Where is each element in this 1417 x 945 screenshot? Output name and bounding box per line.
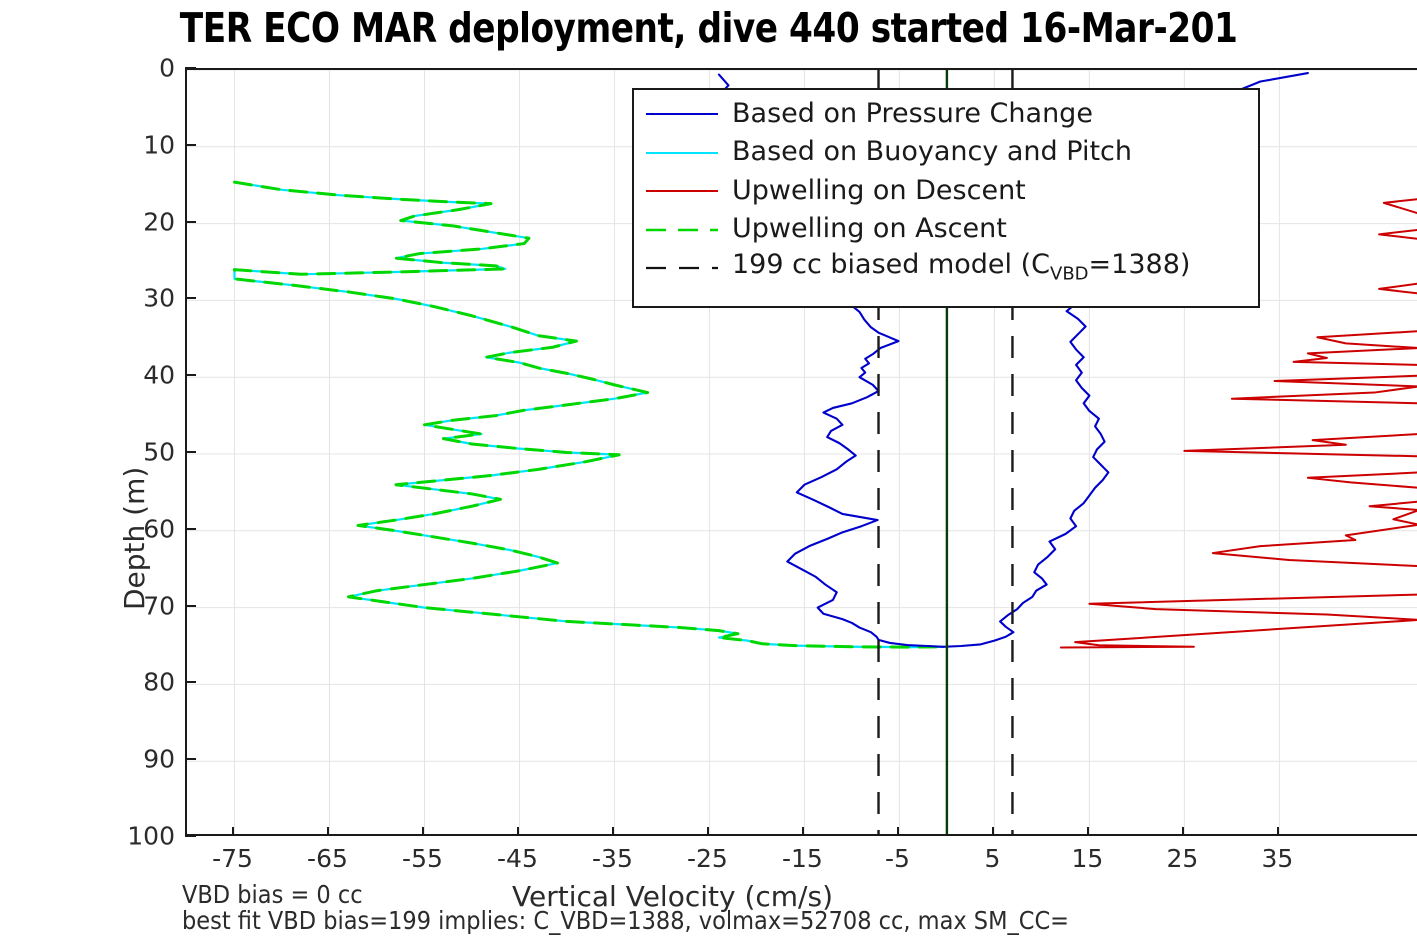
legend-swatch-line — [646, 189, 718, 191]
y-axis-tick-label: 50 — [117, 438, 175, 467]
legend-swatch-line — [646, 112, 718, 114]
legend-swatch-dashed-line — [646, 228, 718, 230]
y-axis-tick-label: 90 — [117, 745, 175, 774]
legend-label-subscript: VBD — [1050, 263, 1089, 284]
x-axis-tick-label: 15 — [1071, 844, 1103, 873]
legend-label-pre: 199 cc biased model (C — [732, 249, 1050, 280]
x-axis-tick — [1087, 827, 1089, 836]
y-axis-tick — [185, 451, 196, 453]
legend-item-buoyancy-pitch[interactable]: Based on Buoyancy and Pitch — [646, 133, 1248, 172]
x-axis-tick-label: -75 — [212, 844, 253, 873]
y-axis-tick-label: 40 — [117, 361, 175, 390]
x-axis-tick-label: -5 — [885, 844, 910, 873]
x-axis-tick-label: 35 — [1261, 844, 1293, 873]
x-axis-tick-label: -35 — [592, 844, 633, 873]
y-axis-tick — [185, 144, 196, 146]
x-axis-tick-label: -25 — [687, 844, 728, 873]
best-fit-annotation: best fit VBD bias=199 implies: C_VBD=138… — [182, 906, 1069, 935]
y-axis-tick — [185, 605, 196, 607]
y-axis-tick-label: 0 — [117, 54, 175, 83]
x-axis-tick — [327, 827, 329, 836]
vbd-bias-annotation: VBD bias = 0 cc — [182, 880, 363, 909]
y-axis-tick — [185, 835, 196, 837]
legend-label: 199 cc biased model (CVBD=1388) — [732, 251, 1190, 283]
chart-legend: Based on Pressure Change Based on Buoyan… — [632, 88, 1260, 308]
y-axis-tick — [185, 221, 196, 223]
x-axis-tick — [1277, 827, 1279, 836]
chart-title: TER ECO MAR deployment, dive 440 started… — [0, 0, 1417, 56]
legend-item-upwelling-descent[interactable]: Upwelling on Descent — [646, 171, 1248, 210]
legend-swatch-line — [646, 151, 718, 153]
x-axis-tick — [802, 827, 804, 836]
y-axis-tick-label: 30 — [117, 284, 175, 313]
y-axis-tick-label: 80 — [117, 668, 175, 697]
x-axis-tick — [897, 827, 899, 836]
y-axis-tick — [185, 297, 196, 299]
x-axis-tick — [612, 827, 614, 836]
legend-label: Upwelling on Descent — [732, 177, 1026, 204]
x-axis-tick — [517, 827, 519, 836]
legend-label: Upwelling on Ascent — [732, 215, 1007, 242]
x-axis-tick-label: -55 — [402, 844, 443, 873]
y-axis-tick — [185, 681, 196, 683]
chart-title-text: TER ECO MAR deployment, dive 440 started… — [180, 4, 1238, 52]
y-axis-tick-label: 20 — [117, 207, 175, 236]
y-axis-tick — [185, 374, 196, 376]
y-axis-title: Depth (m) — [118, 467, 151, 610]
x-axis-tick — [1182, 827, 1184, 836]
legend-swatch-dashed-line — [646, 266, 718, 268]
x-axis-tick — [707, 827, 709, 836]
legend-item-upwelling-ascent[interactable]: Upwelling on Ascent — [646, 210, 1248, 249]
x-axis-tick-label: -65 — [307, 844, 348, 873]
x-axis-tick — [422, 827, 424, 836]
x-axis-tick-label: 5 — [984, 844, 1000, 873]
x-axis-tick — [232, 827, 234, 836]
legend-item-pressure-change[interactable]: Based on Pressure Change — [646, 94, 1248, 133]
x-axis-tick-label: -45 — [497, 844, 538, 873]
y-axis-tick — [185, 67, 196, 69]
y-axis-tick — [185, 758, 196, 760]
x-axis-tick — [992, 827, 994, 836]
x-axis-tick-label: -15 — [782, 844, 823, 873]
legend-label: Based on Buoyancy and Pitch — [732, 138, 1132, 165]
y-axis-tick-label: 10 — [117, 130, 175, 159]
y-axis-tick — [185, 528, 196, 530]
legend-item-biased-model[interactable]: 199 cc biased model (CVBD=1388) — [646, 248, 1248, 287]
x-axis-tick-label: 25 — [1166, 844, 1198, 873]
legend-label-post: =1388) — [1089, 249, 1191, 280]
y-axis-tick-label: 100 — [117, 822, 175, 851]
legend-label: Based on Pressure Change — [732, 100, 1093, 127]
